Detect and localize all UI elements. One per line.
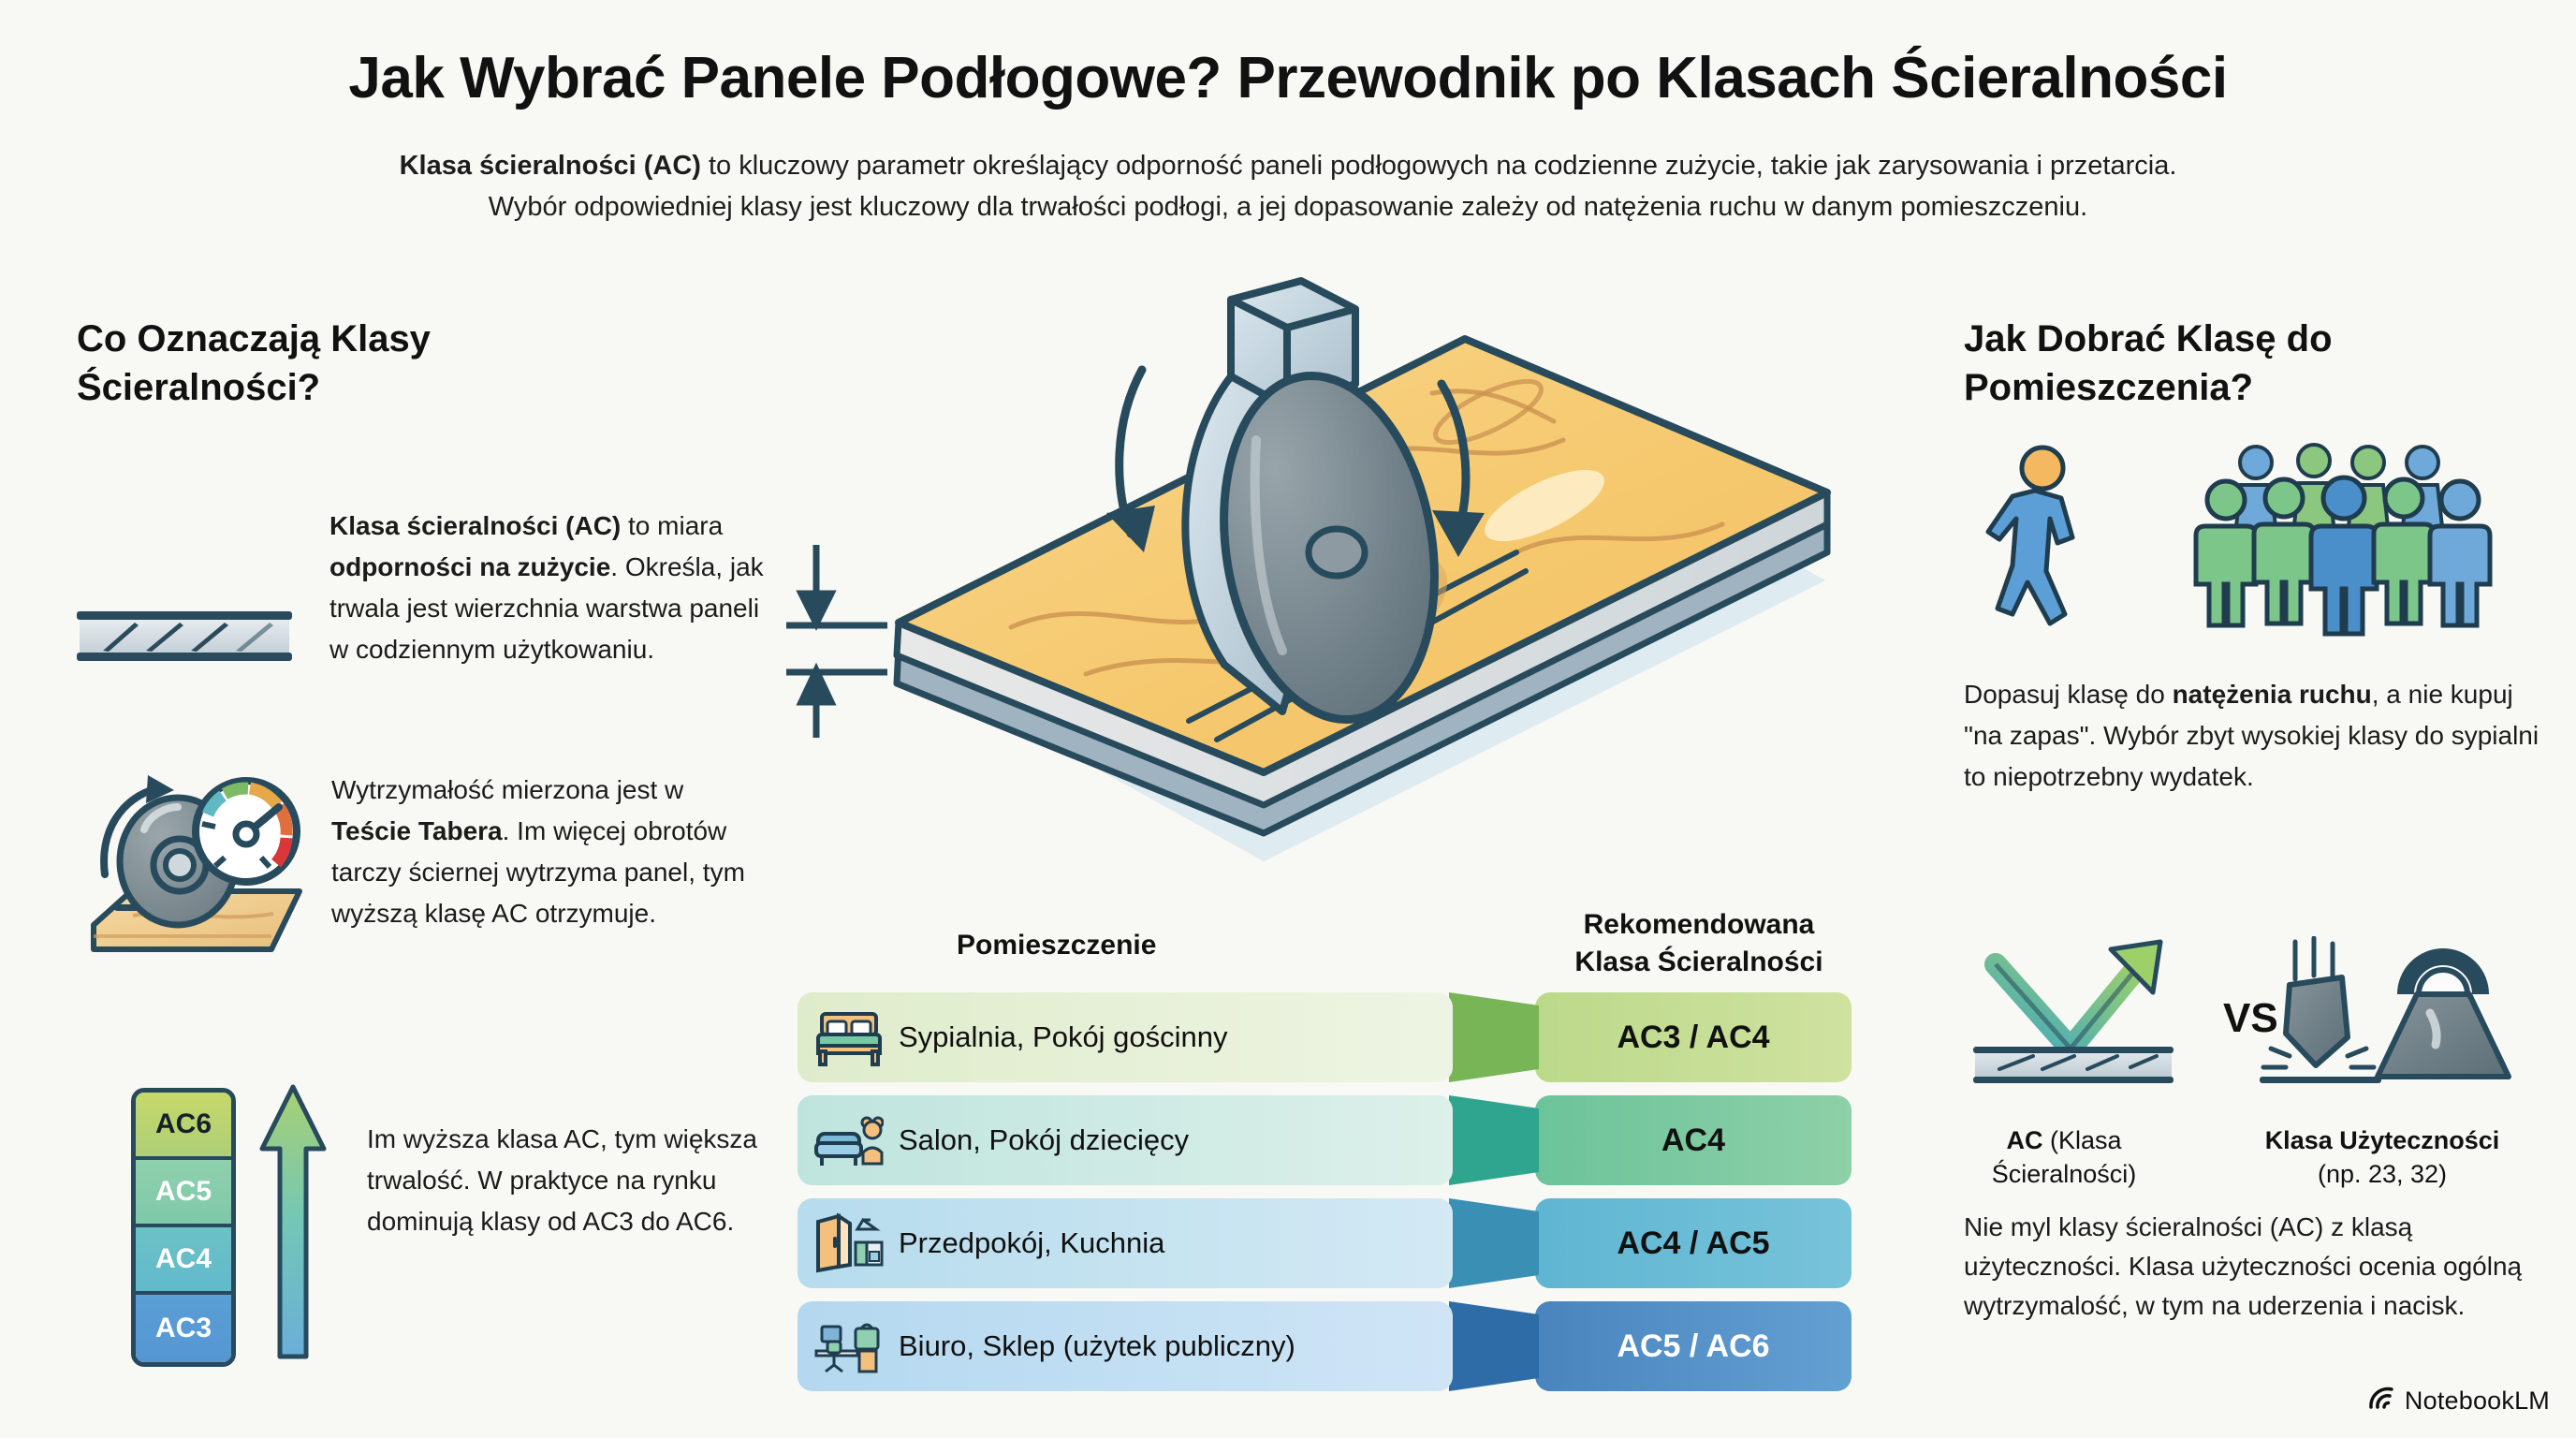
infographic-page: Jak Wybrać Panele Podłogowe? Przewodnik … (0, 0, 2576, 1438)
office-shop-icon (814, 1315, 884, 1377)
table-row-class-cell: AC3 / AC4 (1535, 992, 1851, 1082)
def-plain-1: to miara (621, 511, 723, 540)
table-row-class-label: AC3 / AC4 (1617, 1020, 1769, 1056)
caster-wheel-rolling-on-laminate-panel-illustration (777, 271, 1891, 908)
vs-right-label: Klasa Użyteczności(np. 23, 32) (2209, 1123, 2555, 1191)
left-block-taber-text: Wytrzymałość mierzona jest w Teście Tabe… (311, 749, 769, 934)
table-row-class-cell: AC4 / AC5 (1535, 1198, 1851, 1288)
table-header-class-line1: Rekomendowana (1544, 906, 1853, 944)
def-bold-1: Klasa ścieralności (AC) (329, 511, 621, 540)
ac-vs-usage-class-illustration: VS (1956, 936, 2565, 1114)
table-row[interactable]: Sypialnia, Pokój gościnny AC3 / AC4 (798, 992, 1851, 1082)
table-row-class-label: AC4 (1661, 1123, 1725, 1159)
ac-class-label: AC3 (155, 1313, 212, 1344)
single-walker-and-crowd-icon (1975, 440, 2555, 637)
right-column-heading: Jak Dobrać Klasę do Pomieszczenia? (1964, 315, 2544, 412)
traffic-plain-1: Dopasuj klasę do (1964, 680, 2173, 709)
table-row-connector (1449, 1301, 1539, 1391)
left-block-taber: Wytrzymałość mierzona jest w Teście Tabe… (77, 749, 769, 988)
left-block-ac-scale: AC6 AC5 AC4 AC3 Im (131, 1081, 786, 1367)
table-row-room-cell: Sypialnia, Pokój gościnny (798, 992, 1453, 1082)
table-row-class-cell: AC5 / AC6 (1535, 1301, 1851, 1391)
watermark: NotebookLM (2367, 1385, 2550, 1417)
taber-bold-1: Teście Tabera (331, 816, 503, 845)
subtitle-bold-term: Klasa ścieralności (AC) (400, 151, 701, 181)
taber-plain-1: Wytrzymałość mierzona jest w (331, 775, 683, 804)
subtitle-line-2: Wybór odpowiedniej klasy jest kluczowy d… (489, 192, 2087, 222)
ac-class-row-ac4: AC4 (136, 1227, 231, 1295)
table-header-room: Pomieszczenie (957, 927, 1156, 964)
vs-left-bold: AC (2006, 1126, 2042, 1154)
table-row[interactable]: Przedpokój, Kuchnia AC4 / AC5 (798, 1198, 1851, 1288)
table-row-room-label: Przedpokój, Kuchnia (899, 1226, 1164, 1260)
right-traffic-text: Dopasuj klasę do natężenia ruchu, a nie … (1964, 674, 2554, 798)
vs-left-label: AC (Klasa Ścieralności) (1956, 1123, 2172, 1191)
upward-arrow-icon (256, 1081, 329, 1367)
page-subtitle: Klasa ścieralności (AC) to kluczowy para… (168, 145, 2408, 227)
table-row-connector (1449, 1198, 1539, 1288)
table-row-room-cell: Przedpokój, Kuchnia (798, 1198, 1453, 1288)
table-header-class: Rekomendowana Klasa Ścieralności (1544, 906, 1853, 981)
taber-abrasion-wheel-icon (77, 749, 311, 988)
left-block-definition-text: Klasa ścieralności (AC) to miara odporno… (311, 506, 769, 670)
ac-class-label: AC4 (155, 1243, 212, 1275)
vs-right-bold: Klasa Użyteczności (2265, 1126, 2500, 1154)
sofa-toys-icon (814, 1109, 884, 1171)
table-row-connector (1449, 992, 1539, 1082)
left-block-definition: Klasa ścieralności (AC) to miara odporno… (77, 506, 769, 674)
table-header-class-line2: Klasa Ścieralności (1544, 944, 1853, 981)
table-row-room-label: Salon, Pokój dziecięcy (899, 1123, 1189, 1157)
hallway-kitchen-icon (814, 1212, 884, 1274)
table-row-class-label: AC5 / AC6 (1617, 1328, 1769, 1365)
notebooklm-logo-icon (2367, 1385, 2395, 1417)
ac-class-row-ac3: AC3 (136, 1295, 231, 1362)
vs-right-rest: (np. 23, 32) (2318, 1160, 2447, 1188)
ac-class-stack-icon: AC6 AC5 AC4 AC3 (131, 1081, 346, 1367)
traffic-bold-1: natężenia ruchu (2173, 680, 2372, 709)
bed-icon (814, 1006, 884, 1068)
table-row-connector (1449, 1095, 1539, 1185)
table-row[interactable]: Salon, Pokój dziecięcy AC4 (798, 1095, 1851, 1185)
ac-class-label: AC6 (155, 1108, 212, 1140)
def-bold-2: odporności na zużycie (329, 552, 610, 581)
table-row[interactable]: Biuro, Sklep (użytek publiczny) AC5 / AC… (798, 1301, 1851, 1391)
page-title: Jak Wybrać Panele Podłogowe? Przewodnik … (0, 45, 2576, 111)
table-row-room-cell: Biuro, Sklep (użytek publiczny) (798, 1301, 1453, 1391)
ac-class-row-ac6: AC6 (136, 1093, 231, 1160)
table-row-class-label: AC4 / AC5 (1617, 1225, 1769, 1262)
ac-class-stack: AC6 AC5 AC4 AC3 (131, 1088, 236, 1367)
svg-text:VS: VS (2223, 995, 2278, 1041)
ac-class-label: AC5 (155, 1176, 212, 1208)
left-column-heading: Co Oznaczają Klasy Ścieralności? (77, 315, 601, 412)
panel-layer-scratch-icon (77, 506, 311, 674)
right-usage-class-text: Nie myl klasy ścieralności (AC) z klasą … (1964, 1208, 2563, 1326)
ac-class-row-ac5: AC5 (136, 1160, 231, 1227)
subtitle-line-1-rest: to kluczowy parametr określający odporno… (701, 151, 2176, 181)
left-block-ac-scale-text: Im wyższa klasa AC, tym większa trwalość… (346, 1081, 786, 1242)
table-row-room-label: Biuro, Sklep (użytek publiczny) (899, 1329, 1295, 1363)
table-row-room-label: Sypialnia, Pokój gościnny (899, 1020, 1228, 1054)
watermark-label: NotebookLM (2405, 1387, 2550, 1416)
table-row-room-cell: Salon, Pokój dziecięcy (798, 1095, 1453, 1185)
subtitle-line-1: Klasa ścieralności (AC) to kluczowy para… (400, 151, 2177, 181)
table-row-class-cell: AC4 (1535, 1095, 1851, 1185)
